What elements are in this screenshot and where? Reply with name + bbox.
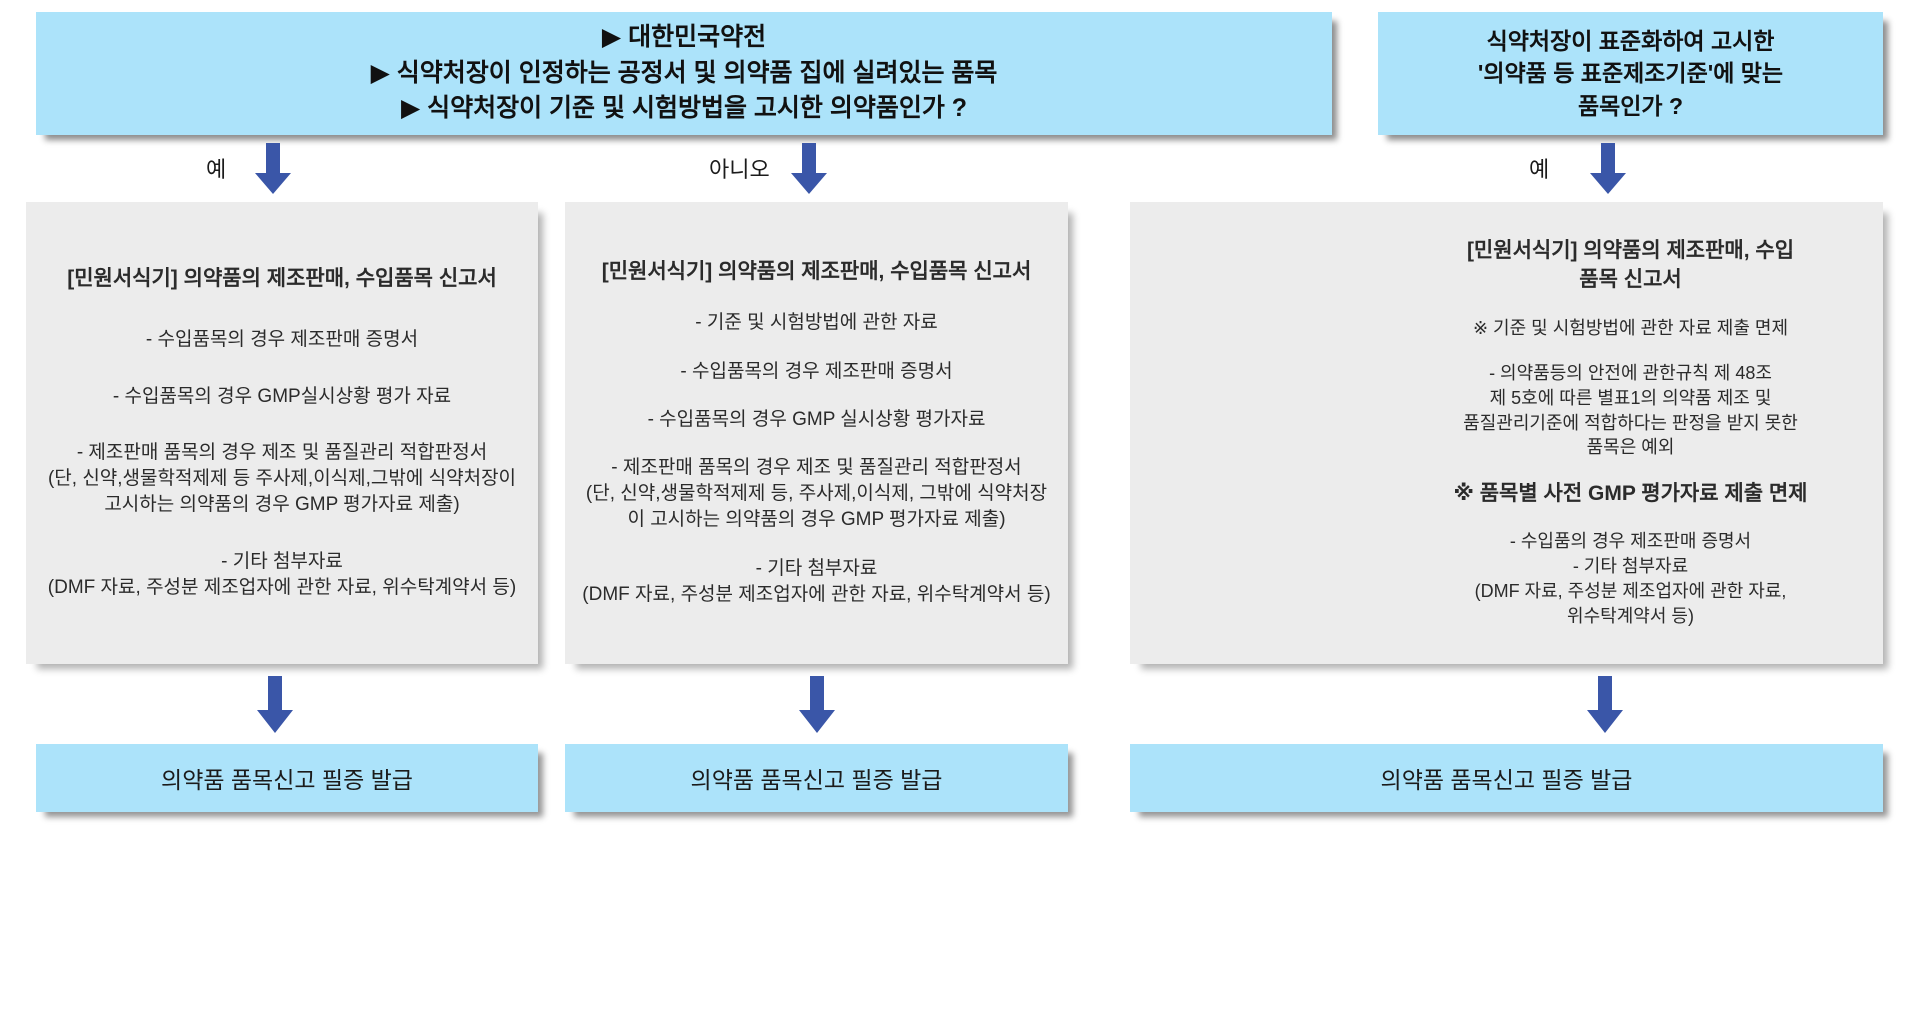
header-left-line-3: ▶ 식약처장이 기준 및 시험방법을 고시한 의약품인가 ? <box>401 91 967 127</box>
header-left-line-1: ▶ 대한민국약전 <box>602 20 766 56</box>
content-left-para-4: - 기타 첨부자료 (DMF 자료, 주성분 제조업자에 관한 자료, 위수탁계… <box>48 549 516 601</box>
edge-label-no-middle: 아니오 <box>709 152 770 184</box>
content-right-para-2: - 의약품등의 안전에 관한규칙 제 48조 제 5호에 따른 별표1의 의약품… <box>1463 361 1798 460</box>
header-box-right: 식약처장이 표준화하여 고시한 '의약품 등 표준제조기준'에 맞는 품목인가 … <box>1378 12 1883 135</box>
arrow-right-top <box>1588 143 1628 195</box>
arrow-right-bottom <box>1585 676 1625 734</box>
edge-label-yes-right: 예 <box>1529 152 1549 184</box>
content-right-para-3: ※ 품목별 사전 GMP 평가자료 제출 면제 <box>1453 480 1807 509</box>
content-middle-para-3: - 수입품목의 경우 GMP 실시상황 평가자료 <box>648 407 986 433</box>
content-left-title: [민원서식기] 의약품의 제조판매, 수입품목 신고서 <box>67 265 497 293</box>
content-right-para-1: ※ 기준 및 시험방법에 관한 자료 제출 면제 <box>1473 316 1788 341</box>
content-right-title: [민원서식기] 의약품의 제조판매, 수입 품목 신고서 <box>1467 237 1794 294</box>
header-right-line-1: 식약처장이 표준화하여 고시한 <box>1487 25 1775 58</box>
content-middle-para-2: - 수입품목의 경우 제조판매 증명서 <box>680 359 952 385</box>
result-box-middle: 의약품 품목신고 필증 발급 <box>565 744 1068 812</box>
content-middle-title: [민원서식기] 의약품의 제조판매, 수입품목 신고서 <box>602 258 1032 286</box>
header-box-left: ▶ 대한민국약전 ▶ 식약처장이 인정하는 공정서 및 의약품 집에 실려있는 … <box>36 12 1332 135</box>
content-box-middle: [민원서식기] 의약품의 제조판매, 수입품목 신고서 - 기준 및 시험방법에… <box>565 202 1068 664</box>
content-right-para-4: - 수입품의 경우 제조판매 증명서 - 기타 첨부자료 (DMF 자료, 주성… <box>1475 529 1787 628</box>
content-middle-para-4: - 제조판매 품목의 경우 제조 및 품질관리 적합판정서 (단, 신약,생물학… <box>586 455 1047 534</box>
content-left-para-2: - 수입품목의 경우 GMP실시상황 평가 자료 <box>113 384 451 410</box>
arrow-left-top <box>253 143 293 195</box>
result-middle-label: 의약품 품목신고 필증 발급 <box>691 761 943 795</box>
content-middle-para-1: - 기준 및 시험방법에 관한 자료 <box>695 310 937 336</box>
result-right-label: 의약품 품목신고 필증 발급 <box>1381 761 1633 795</box>
edge-label-yes-left: 예 <box>206 152 226 184</box>
arrow-left-bottom <box>255 676 295 734</box>
flowchart-canvas: ▶ 대한민국약전 ▶ 식약처장이 인정하는 공정서 및 의약품 집에 실려있는 … <box>0 0 1920 1020</box>
arrow-middle-top <box>789 143 829 195</box>
content-box-left: [민원서식기] 의약품의 제조판매, 수입품목 신고서 - 수입품목의 경우 제… <box>26 202 538 664</box>
content-left-para-3: - 제조판매 품목의 경우 제조 및 품질관리 적합판정서 (단, 신약,생물학… <box>48 440 516 519</box>
result-left-label: 의약품 품목신고 필증 발급 <box>161 761 413 795</box>
header-right-line-2: '의약품 등 표준제조기준'에 맞는 <box>1478 57 1783 90</box>
result-box-left: 의약품 품목신고 필증 발급 <box>36 744 538 812</box>
content-box-right: [민원서식기] 의약품의 제조판매, 수입 품목 신고서 ※ 기준 및 시험방법… <box>1130 202 1883 664</box>
result-box-right: 의약품 품목신고 필증 발급 <box>1130 744 1883 812</box>
arrow-middle-bottom <box>797 676 837 734</box>
content-left-para-1: - 수입품목의 경우 제조판매 증명서 <box>146 327 418 353</box>
content-middle-para-5: - 기타 첨부자료 (DMF 자료, 주성분 제조업자에 관한 자료, 위수탁계… <box>582 556 1050 608</box>
header-right-line-3: 품목인가 ? <box>1578 90 1683 123</box>
header-left-line-2: ▶ 식약처장이 인정하는 공정서 및 의약품 집에 실려있는 품목 <box>371 56 998 92</box>
